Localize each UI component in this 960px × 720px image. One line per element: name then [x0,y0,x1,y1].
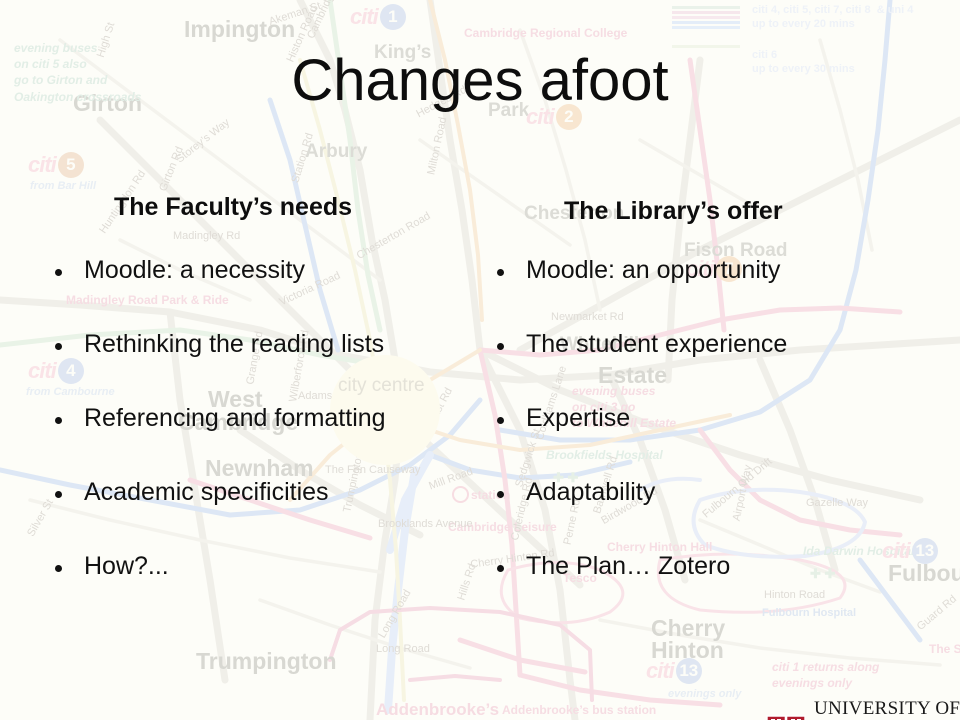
logo-line-1: UNIVERSITY OF [814,700,960,719]
slide-content: Changes afoot The Faculty’s needs The Li… [0,0,960,720]
cambridge-crest-icon [766,715,806,720]
list-item: Referencing and formatting [48,406,468,431]
logo-wordmark: UNIVERSITY OF CAMBRIDGE [814,663,960,720]
list-item: Moodle: a necessity [48,258,468,283]
list-item: The Plan… Zotero [490,554,940,579]
column-heading-library: The Library’s offer [564,197,783,226]
list-item: The student experience [490,332,940,357]
university-of-cambridge-logo: UNIVERSITY OF CAMBRIDGE [766,663,960,720]
list-item: Expertise [490,406,940,431]
list-item: Moodle: an opportunity [490,258,940,283]
list-item: How?... [48,554,468,579]
library-offer-list: Moodle: an opportunity The student exper… [490,258,940,628]
list-item: Academic specificities [48,480,468,505]
slide-canvas: citi 4, citi 5, citi 7, citi 8 & uni 4 u… [0,0,960,720]
list-item: Rethinking the reading lists [48,332,468,357]
page-title: Changes afoot [0,52,960,110]
column-heading-faculty: The Faculty’s needs [114,193,352,222]
faculty-needs-list: Moodle: a necessity Rethinking the readi… [48,258,468,628]
list-item: Adaptability [490,480,940,505]
